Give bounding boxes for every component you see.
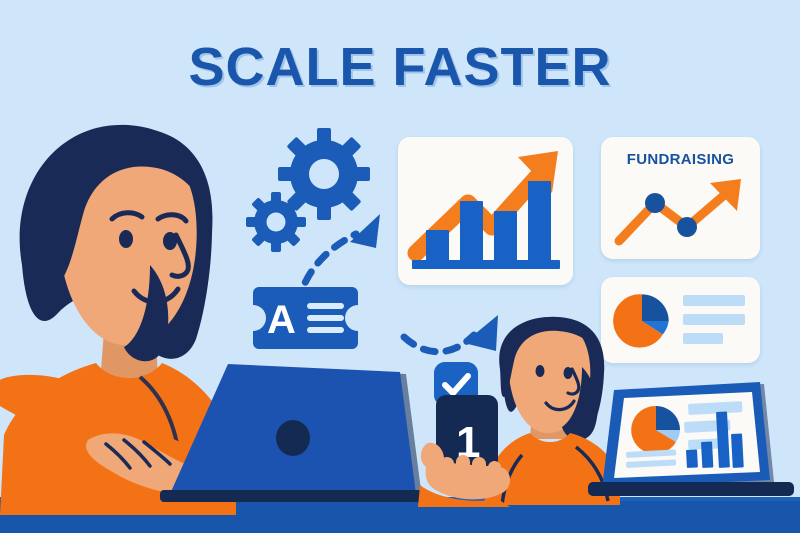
ticket-letter: A xyxy=(267,298,296,342)
pie-legend xyxy=(683,295,745,352)
fundraising-label: FUNDRAISING xyxy=(601,151,760,168)
eye xyxy=(119,230,133,248)
illustration-canvas: SCALE FASTER xyxy=(0,0,800,533)
bar-item xyxy=(528,181,551,263)
content-ticket-card[interactable]: A xyxy=(253,287,358,349)
bar-item xyxy=(460,201,483,263)
laptop-left[interactable] xyxy=(160,360,430,508)
laptop-base xyxy=(588,482,794,496)
legend-line xyxy=(683,333,723,344)
fundraising-line-chart xyxy=(611,175,751,249)
ticket-lines xyxy=(307,303,344,333)
bar-item xyxy=(494,211,517,263)
eye xyxy=(536,365,545,377)
data-point xyxy=(645,193,665,213)
bar-item xyxy=(426,230,449,263)
bar-chart-plot xyxy=(412,163,560,269)
laptop-right[interactable] xyxy=(588,378,800,506)
legend-line xyxy=(683,314,745,325)
bar-chart-card[interactable] xyxy=(398,137,573,285)
laptop-base xyxy=(160,490,426,502)
laptop-logo xyxy=(276,420,310,456)
smartphone-in-hands[interactable]: 1 xyxy=(418,395,543,507)
legend-line xyxy=(683,295,745,306)
fundraising-card[interactable]: FUNDRAISING xyxy=(601,137,760,259)
data-point xyxy=(677,217,697,237)
page-title: SCALE FASTER xyxy=(0,36,800,98)
